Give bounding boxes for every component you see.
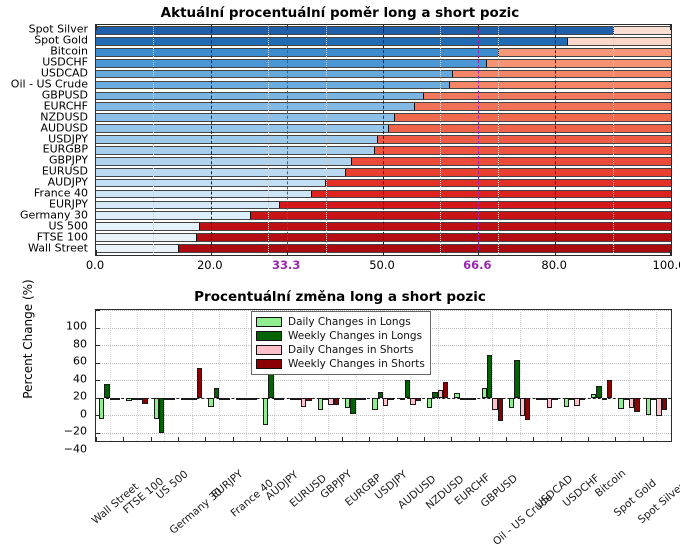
short-segment <box>251 212 671 219</box>
short-segment <box>352 158 671 165</box>
long-segment <box>96 223 200 230</box>
y-axis-tick-label: 20 <box>73 390 87 403</box>
x-axis-tick <box>96 24 97 30</box>
short-segment <box>487 60 671 67</box>
long-segment <box>96 125 389 132</box>
legend-swatch <box>256 331 282 341</box>
x-axis-tick <box>211 250 212 256</box>
gridline <box>246 310 247 441</box>
legend-item: Daily Changes in Longs <box>256 315 425 329</box>
short-segment <box>378 136 671 143</box>
x-axis-tick <box>670 24 671 30</box>
change-bar <box>306 398 311 402</box>
x-axis-tick-label: 0.0 <box>86 258 104 272</box>
bottom-chart-plot-area: Daily Changes in LongsWeekly Changes in … <box>95 309 672 442</box>
long-segment <box>96 38 568 45</box>
gridline <box>440 25 442 255</box>
long-segment <box>96 49 499 56</box>
gridline <box>219 310 220 441</box>
change-bar <box>279 398 284 400</box>
x-axis-tick <box>211 24 212 30</box>
short-segment <box>346 169 671 176</box>
x-axis-tick-label: 100.0 <box>653 258 680 272</box>
change-bar <box>634 398 639 412</box>
long-segment <box>96 245 179 252</box>
change-bar <box>224 398 229 400</box>
y-axis-tick <box>95 345 100 346</box>
change-bar <box>509 398 514 409</box>
gridline <box>326 25 328 255</box>
short-segment <box>450 82 671 89</box>
top-chart-y-axis-labels: Spot SilverSpot GoldBitcoinUSDCHFUSDCADO… <box>0 24 92 256</box>
x-axis-tick <box>506 437 507 442</box>
change-bar <box>498 398 503 421</box>
legend-label: Weekly Changes in Longs <box>288 330 422 342</box>
x-axis-tick-label: 80.0 <box>541 258 567 272</box>
x-axis-tick <box>369 437 370 442</box>
change-bar <box>514 360 519 398</box>
short-segment <box>424 93 671 100</box>
x-axis-tick <box>96 250 97 256</box>
x-axis-tick <box>397 437 398 442</box>
legend-item: Weekly Changes in Longs <box>256 329 425 343</box>
y-axis-tick <box>95 310 100 311</box>
gridline <box>498 25 500 255</box>
percent-change-chart: Procentuální změna long a short pozic Pe… <box>0 292 680 515</box>
long-segment <box>96 191 312 198</box>
short-segment <box>389 125 671 132</box>
change-bar <box>427 398 432 409</box>
y-axis-tick-label: 100 <box>66 320 87 333</box>
gridline <box>520 310 521 441</box>
y-axis-tick-label: 80 <box>73 337 87 350</box>
x-axis-tick <box>561 437 562 442</box>
gridline <box>656 310 657 441</box>
gridline <box>629 310 630 441</box>
long-segment <box>96 27 614 34</box>
gridline <box>137 310 138 441</box>
change-bar <box>104 384 109 398</box>
gridline <box>602 310 603 441</box>
change-bar <box>388 398 393 400</box>
gridline <box>613 25 615 255</box>
change-bar <box>208 398 213 408</box>
short-segment <box>312 191 671 198</box>
gridline <box>547 310 548 441</box>
x-axis-tick-label: 66.6 <box>463 258 491 272</box>
gridline <box>153 25 155 255</box>
change-bar <box>334 398 339 405</box>
legend-label: Daily Changes in Longs <box>288 316 411 328</box>
x-axis-tick <box>96 437 97 442</box>
long-segment <box>96 82 450 89</box>
change-bar <box>646 398 651 415</box>
long-segment <box>96 103 415 110</box>
gridline-highlight <box>478 25 480 255</box>
change-bar <box>400 398 405 400</box>
legend-label: Weekly Changes in Shorts <box>288 358 425 370</box>
x-axis-tick <box>315 437 316 442</box>
short-segment <box>200 223 672 230</box>
long-segment <box>96 169 346 176</box>
change-bar <box>552 398 557 400</box>
x-axis-tick <box>123 437 124 442</box>
x-axis-tick <box>287 24 288 30</box>
x-axis-tick <box>478 250 479 256</box>
change-bar <box>170 398 175 400</box>
bottom-chart-y-axis-labels: −40−20020406080100 <box>0 309 92 442</box>
long-segment <box>96 234 197 241</box>
y-axis-tick-label: −40 <box>64 442 87 455</box>
x-axis-tick-label: 50.0 <box>369 258 395 272</box>
y-axis-tick <box>95 380 100 381</box>
legend-swatch <box>256 359 282 369</box>
gridline-major <box>383 25 385 255</box>
change-bar <box>192 398 197 400</box>
change-bar <box>159 398 164 433</box>
long-segment <box>96 71 453 78</box>
gridline <box>438 310 439 441</box>
gridline-major <box>555 25 557 255</box>
long-segment <box>96 93 424 100</box>
top-chart-title: Aktuální procentuální poměr long a short… <box>0 5 680 21</box>
gridline <box>574 310 575 441</box>
short-segment <box>415 103 671 110</box>
change-bar <box>197 368 202 398</box>
bottom-chart-x-axis-labels: Wall StreetFTSE 100US 500Germany 30EURJP… <box>95 444 672 514</box>
change-bar <box>416 398 421 402</box>
change-bar <box>487 355 492 398</box>
change-bar <box>470 398 475 400</box>
short-segment <box>179 245 671 252</box>
change-bar <box>350 398 355 414</box>
gridline <box>465 310 466 441</box>
change-bar <box>263 398 268 425</box>
gridline <box>192 310 193 441</box>
x-axis-tick <box>383 24 384 30</box>
x-axis-tick <box>533 437 534 442</box>
long-segment <box>96 212 251 219</box>
short-segment <box>568 38 672 45</box>
legend-label: Daily Changes in Shorts <box>288 344 413 356</box>
y-axis-tick <box>95 363 100 364</box>
gridline <box>110 310 111 441</box>
change-bar <box>607 380 612 398</box>
y-axis-tick-label: −20 <box>64 425 87 438</box>
x-axis-tick <box>643 437 644 442</box>
short-segment <box>499 49 672 56</box>
long-short-ratio-chart: Aktuální procentuální poměr long a short… <box>0 0 680 292</box>
x-axis-tick-label: 20.0 <box>197 258 223 272</box>
x-axis-tick <box>260 437 261 442</box>
legend: Daily Changes in LongsWeekly Changes in … <box>251 311 431 375</box>
change-bar <box>372 398 377 410</box>
x-axis-tick <box>670 250 671 256</box>
bottom-chart-title: Procentuální změna long a short pozic <box>0 289 680 305</box>
x-axis-tick <box>205 437 206 442</box>
change-bar <box>602 398 607 400</box>
dual-chart-figure: Aktuální procentuální poměr long a short… <box>0 0 680 515</box>
gridline <box>268 25 270 255</box>
top-chart-x-axis-labels: 0.020.033.350.066.680.0100.0 <box>95 258 672 274</box>
long-segment <box>96 202 280 209</box>
x-axis-tick <box>233 437 234 442</box>
x-axis-tick <box>383 250 384 256</box>
x-axis-tick <box>151 437 152 442</box>
x-axis-tick <box>287 437 288 442</box>
legend-item: Weekly Changes in Shorts <box>256 357 425 371</box>
short-segment <box>395 114 671 121</box>
gridline <box>492 310 493 441</box>
x-axis-tick <box>615 437 616 442</box>
x-axis-tick <box>555 250 556 256</box>
x-axis-tick-label: EURJPY <box>209 468 245 501</box>
long-segment <box>96 147 375 154</box>
change-bar <box>662 398 667 410</box>
change-bar <box>252 398 257 400</box>
x-axis-tick <box>555 24 556 30</box>
x-axis-tick <box>479 437 480 442</box>
change-bar <box>525 398 530 420</box>
change-bar <box>142 398 147 404</box>
x-axis-tick <box>287 250 288 256</box>
y-axis-tick-label: 60 <box>73 355 87 368</box>
gridline <box>164 310 165 441</box>
change-bar <box>596 386 601 398</box>
short-segment <box>375 147 671 154</box>
gridline-highlight <box>287 25 289 255</box>
y-axis-tick-label: 0 <box>80 407 87 420</box>
legend-swatch <box>256 345 282 355</box>
x-axis-tick <box>451 437 452 442</box>
y-axis-tick-label: Wall Street <box>28 242 88 253</box>
y-axis-tick <box>95 328 100 329</box>
x-axis-tick <box>342 437 343 442</box>
change-bar <box>361 398 366 400</box>
top-chart-plot-area <box>95 24 672 256</box>
long-segment <box>96 136 378 143</box>
y-axis-tick <box>95 433 100 434</box>
x-axis-tick-label: 33.3 <box>272 258 300 272</box>
long-segment <box>96 158 352 165</box>
x-axis-tick <box>588 437 589 442</box>
change-bar <box>443 382 448 398</box>
change-bar <box>99 398 104 419</box>
x-axis-tick <box>178 437 179 442</box>
gridline-major <box>211 25 213 255</box>
x-axis-tick <box>478 24 479 30</box>
short-segment <box>614 27 672 34</box>
long-segment <box>96 114 395 121</box>
change-bar <box>580 398 585 400</box>
legend-item: Daily Changes in Shorts <box>256 343 425 357</box>
y-axis-tick-label: 40 <box>73 372 87 385</box>
short-segment <box>453 71 672 78</box>
change-bar <box>115 398 120 400</box>
legend-swatch <box>256 317 282 327</box>
change-bar <box>405 380 410 398</box>
x-axis-tick <box>424 437 425 442</box>
change-bar <box>214 388 219 398</box>
